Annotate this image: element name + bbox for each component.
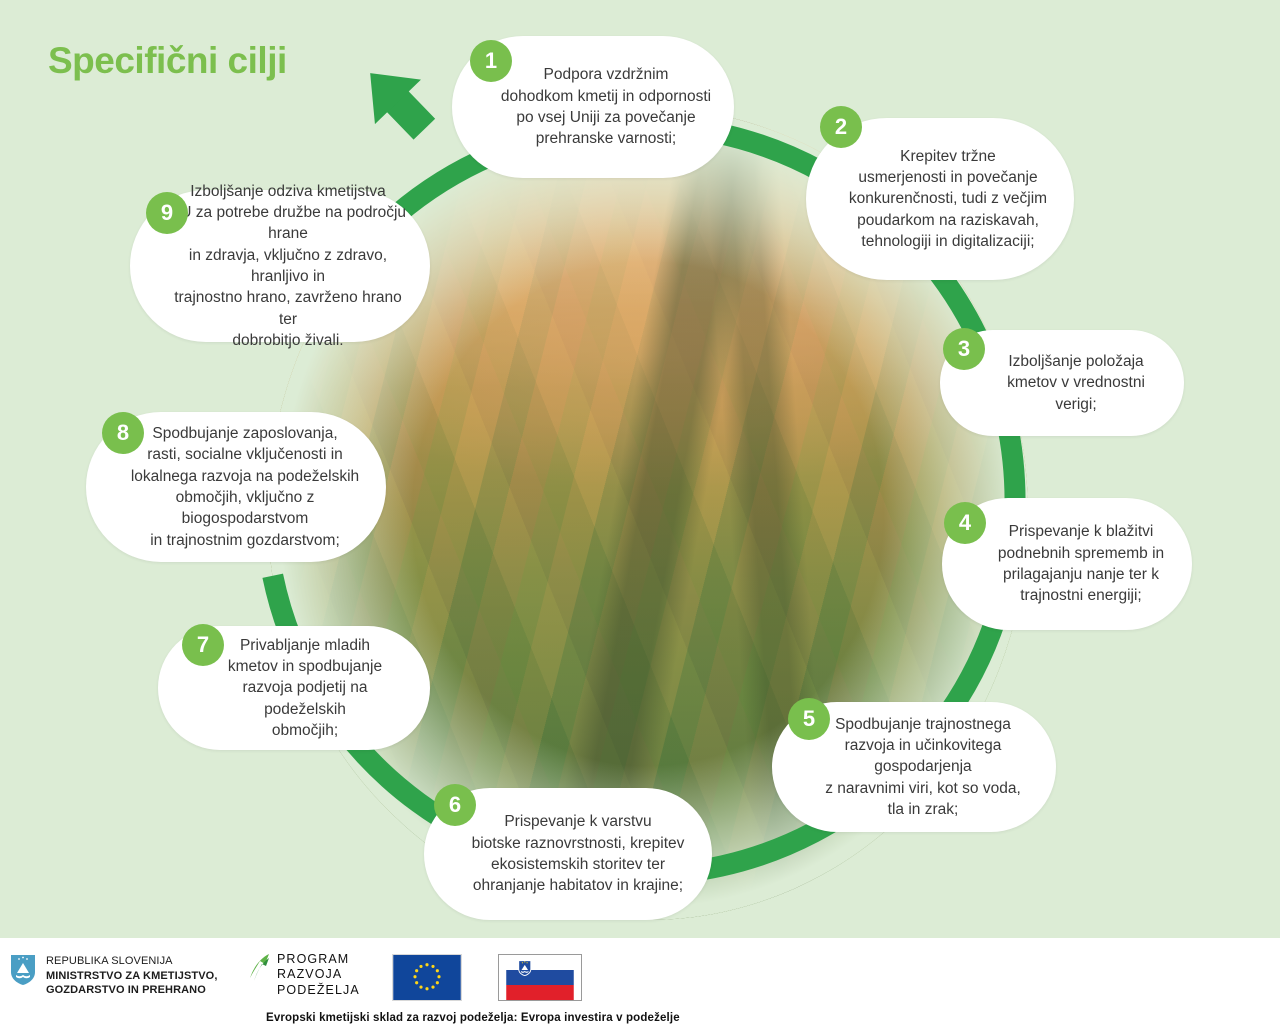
- infographic-page: Specifični cilji Podpora vzdržnim dohodk…: [0, 0, 1280, 1026]
- objective-text-4: Prispevanje k blažitvi podnebnih spremem…: [970, 521, 1164, 607]
- objective-number-9: 9: [146, 192, 188, 234]
- footer-logo-bar: REPUBLIKA SLOVENIJA MINISTRSTVO ZA KMETI…: [0, 938, 1280, 1026]
- objective-text-1: Podpora vzdržnim dohodkom kmetij in odpo…: [475, 64, 711, 150]
- objective-number-4: 4: [944, 502, 986, 544]
- slovenia-flag-icon: [498, 954, 582, 1001]
- prp-logo-block: PROGRAM RAZVOJA PODEŽELJA: [248, 952, 360, 998]
- ministry-line-2: MINISTRSTVO ZA KMETIJSTVO,: [46, 969, 217, 984]
- page-title: Specifični cilji: [48, 40, 287, 82]
- objective-number-3: 3: [943, 328, 985, 370]
- ministry-line-1: REPUBLIKA SLOVENIJA: [46, 954, 217, 969]
- objective-number-6: 6: [434, 784, 476, 826]
- objective-number-1: 1: [470, 40, 512, 82]
- objective-number-8: 8: [102, 412, 144, 454]
- slovenia-flag-block: [498, 954, 582, 1001]
- objective-text-3: Izboljšanje položaja kmetov v vrednostni…: [979, 351, 1145, 415]
- european-union-flag-icon: [392, 954, 462, 1001]
- ministry-line-3: GOZDARSTVO IN PREHRANO: [46, 983, 217, 998]
- objective-number-5: 5: [788, 698, 830, 740]
- eu-flag-block: [392, 954, 462, 1001]
- ministry-logo-block: REPUBLIKA SLOVENIJA MINISTRSTVO ZA KMETI…: [10, 954, 217, 998]
- objective-text-8: Spodbujanje zaposlovanja, rasti, socialn…: [108, 423, 364, 551]
- objective-text-6: Prispevanje k varstvu biotske raznovrstn…: [452, 811, 685, 897]
- objective-text-9: Izboljšanje odziva kmetijstva EU za potr…: [152, 181, 408, 352]
- slovenia-coat-of-arms-icon: [10, 954, 36, 986]
- objective-text-2: Krepitev tržne usmerjenosti in povečanje…: [833, 146, 1047, 253]
- prp-line-1: PROGRAM: [277, 952, 360, 967]
- prp-leaf-arrow-icon: [248, 952, 272, 982]
- funding-caption: Evropski kmetijski sklad za razvoj podež…: [266, 1012, 680, 1024]
- ministry-name: REPUBLIKA SLOVENIJA MINISTRSTVO ZA KMETI…: [46, 954, 217, 998]
- objective-text-5: Spodbujanje trajnostnega razvoja in učin…: [794, 714, 1034, 821]
- ring-arrowhead: [347, 51, 447, 152]
- green-panel: Specifični cilji Podpora vzdržnim dohodk…: [0, 0, 1280, 938]
- prp-line-2: RAZVOJA: [277, 967, 360, 982]
- objective-number-7: 7: [182, 624, 224, 666]
- prp-line-3: PODEŽELJA: [277, 983, 360, 998]
- prp-name: PROGRAM RAZVOJA PODEŽELJA: [277, 952, 360, 998]
- objective-number-2: 2: [820, 106, 862, 148]
